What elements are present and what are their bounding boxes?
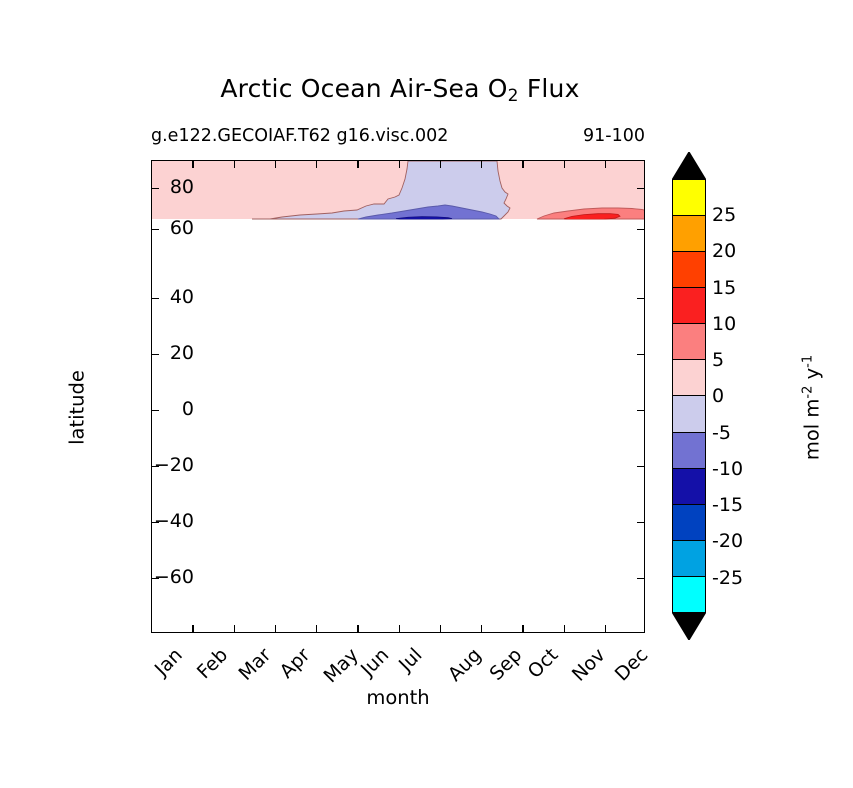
x-tick-label-jan: Jan xyxy=(151,644,187,680)
colorbar-extend-top-icon xyxy=(672,152,706,180)
colorbar-tick-n25: -25 xyxy=(712,567,743,589)
x-tick-label-feb: Feb xyxy=(193,644,232,683)
x-tick-top-5 xyxy=(357,161,358,168)
x-tick-label-nov: Nov xyxy=(568,644,610,686)
x-tick-bot-10 xyxy=(564,625,565,632)
page-title: Arctic Ocean Air-Sea O2 Flux xyxy=(0,74,800,106)
x-tick-bot-11 xyxy=(605,625,606,632)
y-axis-title: latitude xyxy=(66,328,89,488)
y-tick-label-n60: −60 xyxy=(104,566,194,588)
colorbar-title-exp1: -2 xyxy=(801,386,816,399)
y-tick-right-60 xyxy=(637,229,644,230)
x-tick-top-8 xyxy=(481,161,482,168)
title-subscript: 2 xyxy=(508,86,519,106)
colorbar-tick-n15: -15 xyxy=(712,494,743,516)
x-axis-title: month xyxy=(151,686,645,709)
colorbar-band-neg30-neg25 xyxy=(673,577,705,612)
x-tick-label-dec: Dec xyxy=(611,644,653,686)
y-tick-right-40 xyxy=(637,298,644,299)
x-tick-top-6 xyxy=(399,161,400,168)
colorbar-tick-10: 10 xyxy=(712,313,736,335)
y-tick-label-0: 0 xyxy=(104,398,194,420)
colorbar-band-20-25 xyxy=(673,216,705,252)
filled-contours xyxy=(152,161,645,633)
colorbar-band-neg5-0 xyxy=(673,396,705,432)
colorbar-band-25-30 xyxy=(673,180,705,216)
y-tick-label-n40: −40 xyxy=(104,510,194,532)
x-tick-top-11 xyxy=(605,161,606,168)
y-tick-right-0 xyxy=(637,410,644,411)
contour-plot xyxy=(152,161,645,633)
x-tick-label-jun: Jun xyxy=(357,644,394,681)
colorbar-title-mid: y xyxy=(801,368,824,386)
x-tick-label-apr: Apr xyxy=(276,644,315,683)
colorbar-tick-25: 25 xyxy=(712,204,736,226)
x-tick-top-9 xyxy=(522,161,523,168)
colorbar-tick-n10: -10 xyxy=(712,458,743,480)
colorbar-tick-15: 15 xyxy=(712,277,736,299)
y-tick-right-n60 xyxy=(637,578,644,579)
colorbar-title: mol m-2 y-1 xyxy=(801,298,824,518)
colorbar-band-neg25-neg20 xyxy=(673,541,705,577)
colorbar-title-exp2: -1 xyxy=(801,355,816,368)
x-tick-bot-4 xyxy=(316,625,317,632)
x-tick-top-10 xyxy=(564,161,565,168)
plot-axes xyxy=(151,160,645,633)
x-tick-top-3 xyxy=(275,161,276,168)
y-tick-right-n20 xyxy=(637,466,644,467)
title-main: Arctic Ocean Air-Sea O xyxy=(220,74,507,103)
colorbar-extend-bottom-icon xyxy=(672,612,706,640)
x-tick-top-1 xyxy=(192,161,193,168)
y-tick-right-n40 xyxy=(637,522,644,523)
y-tick-label-20: 20 xyxy=(104,342,194,364)
colorbar-tick-n20: -20 xyxy=(712,530,743,552)
colorbar-band-neg20-neg15 xyxy=(673,505,705,541)
x-tick-label-aug: Aug xyxy=(444,644,486,686)
x-tick-bot-9 xyxy=(522,625,523,632)
x-tick-top-7 xyxy=(440,161,441,168)
colorbar-band-15-20 xyxy=(673,252,705,288)
colorbar-band-neg15-neg10 xyxy=(673,469,705,505)
colorbar-bands xyxy=(672,179,706,613)
x-tick-label-oct: Oct xyxy=(524,644,563,683)
colorbar-band-neg10-neg5 xyxy=(673,433,705,469)
colorbar-title-main: mol m xyxy=(801,399,824,461)
no-data-mask xyxy=(152,220,645,634)
x-tick-bot-1 xyxy=(192,625,193,632)
colorbar-band-0-5 xyxy=(673,360,705,396)
x-tick-bot-8 xyxy=(481,625,482,632)
x-tick-label-mar: Mar xyxy=(235,644,276,685)
colorbar-tick-20: 20 xyxy=(712,240,736,262)
x-tick-bot-7 xyxy=(440,625,441,632)
x-tick-bot-3 xyxy=(275,625,276,632)
figure-canvas: Arctic Ocean Air-Sea O2 Flux g.e122.GECO… xyxy=(0,0,853,788)
x-tick-top-4 xyxy=(316,161,317,168)
x-tick-top-2 xyxy=(234,161,235,168)
colorbar-tick-0: 0 xyxy=(712,385,724,407)
colorbar: 25 20 15 10 5 0 -5 -10 -15 -20 -25 xyxy=(672,152,706,640)
x-tick-bot-5 xyxy=(357,625,358,632)
colorbar-tick-n5: -5 xyxy=(712,422,731,444)
x-tick-bot-6 xyxy=(399,625,400,632)
y-tick-right-20 xyxy=(637,354,644,355)
subtitle-year-range: 91-100 xyxy=(395,126,645,146)
colorbar-band-10-15 xyxy=(673,288,705,324)
x-tick-label-may: May xyxy=(320,644,363,687)
colorbar-tick-5: 5 xyxy=(712,349,724,371)
x-tick-bot-2 xyxy=(234,625,235,632)
y-tick-label-80: 80 xyxy=(104,176,194,198)
y-tick-label-n20: −20 xyxy=(104,454,194,476)
y-tick-right-80 xyxy=(637,188,644,189)
colorbar-band-5-10 xyxy=(673,324,705,360)
x-tick-label-sep: Sep xyxy=(485,644,526,685)
x-tick-label-jul: Jul xyxy=(395,644,427,676)
y-tick-label-40: 40 xyxy=(104,286,194,308)
y-tick-label-60: 60 xyxy=(104,217,194,239)
title-tail: Flux xyxy=(519,74,580,103)
